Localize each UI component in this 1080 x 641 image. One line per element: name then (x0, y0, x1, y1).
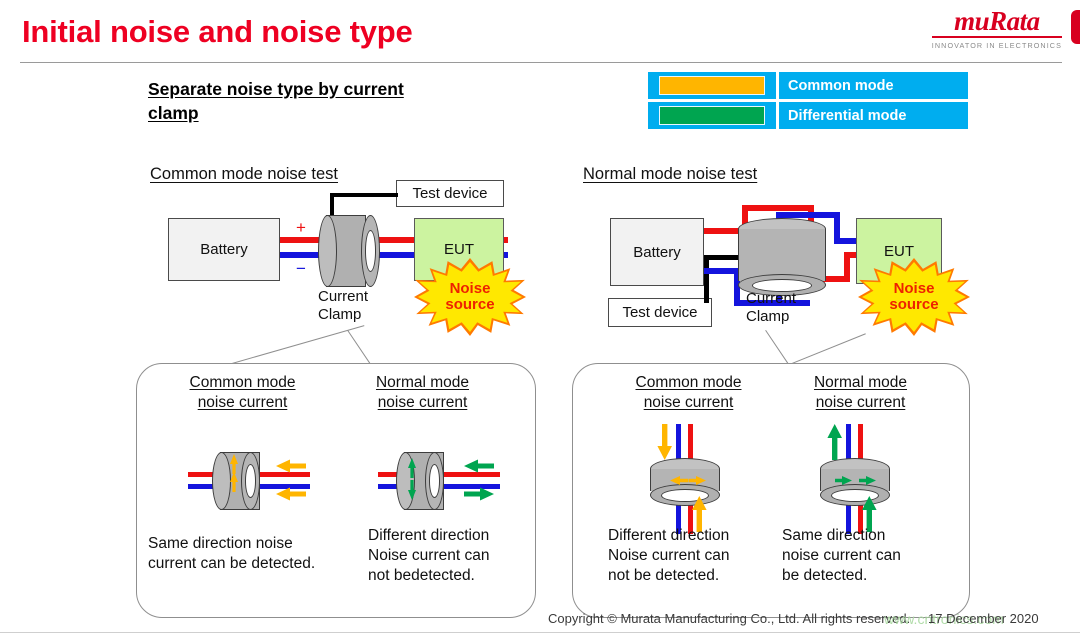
subtitle-line-2: clamp (148, 103, 199, 123)
lc1-arrows (180, 446, 330, 514)
left-callout-col2-body: Different direction Noise current can no… (368, 526, 538, 585)
copyright-text: Copyright © Murata Manufacturing Co., Lt… (548, 611, 910, 626)
logo-tagline: INNOVATOR IN ELECTRONICS (932, 41, 1062, 50)
subtitle-line-1: Separate noise type by current (148, 79, 404, 99)
left-probe-wire-h (330, 193, 398, 197)
left-current-clamp (318, 215, 380, 285)
rc2-arrows (810, 420, 920, 540)
left-polarity-minus: − (296, 259, 306, 279)
right-wire-red-3 (742, 205, 814, 211)
rc1-arrows (640, 420, 750, 540)
left-callout-tail-a (218, 325, 364, 368)
left-callout-col2-heading: Normal mode noise current (340, 373, 505, 413)
right-noise-source-text: Noisesource (889, 281, 938, 313)
header-divider (20, 62, 1062, 63)
left-noise-source-text: Noisesource (445, 281, 494, 313)
slide: Initial noise and noise type muRata INNO… (0, 0, 1080, 641)
left-test-device-box: Test device (396, 180, 504, 207)
legend-row-common: Common mode (648, 72, 968, 99)
section-subtitle: Separate noise type by current clamp (148, 78, 498, 125)
left-callout-col1-heading: Common mode noise current (160, 373, 325, 413)
left-setup-title: Common mode noise test (150, 165, 338, 184)
left-noise-source-burst: Noisesource (414, 258, 526, 336)
right-current-clamp (738, 218, 826, 296)
right-clamp-label: Current Clamp (746, 290, 796, 326)
mode-legend: Common mode Differential mode (648, 72, 968, 132)
left-polarity-plus: + (296, 218, 306, 238)
legend-swatch-cell-differential (648, 102, 776, 129)
right-setup-title: Normal mode noise test (583, 165, 757, 184)
slide-footer: Copyright © Murata Manufacturing Co., Lt… (0, 611, 1080, 633)
logo-edge-accent (1071, 10, 1080, 44)
logo-wordmark: muRata (932, 8, 1062, 38)
legend-swatch-cell-common (648, 72, 776, 99)
footer-divider (0, 632, 1080, 633)
lc2-arrows (370, 446, 520, 514)
legend-label-differential: Differential mode (779, 102, 968, 129)
date-stamp: 17 December 2020 (928, 611, 1039, 626)
murata-logo: muRata INNOVATOR IN ELECTRONICS (932, 8, 1062, 50)
legend-swatch-differential (659, 106, 765, 125)
right-callout-col2-body: Same direction noise current can be dete… (782, 526, 952, 585)
right-test-device-box: Test device (608, 298, 712, 327)
right-probe-wire-v (704, 255, 709, 303)
right-callout-col2-heading: Normal mode noise current (778, 373, 943, 413)
right-battery-box: Battery (610, 218, 704, 286)
right-noise-source-burst: Noisesource (858, 258, 970, 336)
right-callout-col1-heading: Common mode noise current (606, 373, 771, 413)
left-battery-box: Battery (168, 218, 280, 281)
right-callout-col1-body: Different direction Noise current can no… (608, 526, 778, 585)
left-callout-col1-body: Same direction noisecurrent can be detec… (148, 534, 338, 574)
legend-row-differential: Differential mode (648, 102, 968, 129)
legend-swatch-common (659, 76, 765, 95)
legend-label-common: Common mode (779, 72, 968, 99)
left-clamp-label: Current Clamp (318, 288, 368, 324)
page-title: Initial noise and noise type (22, 14, 413, 50)
